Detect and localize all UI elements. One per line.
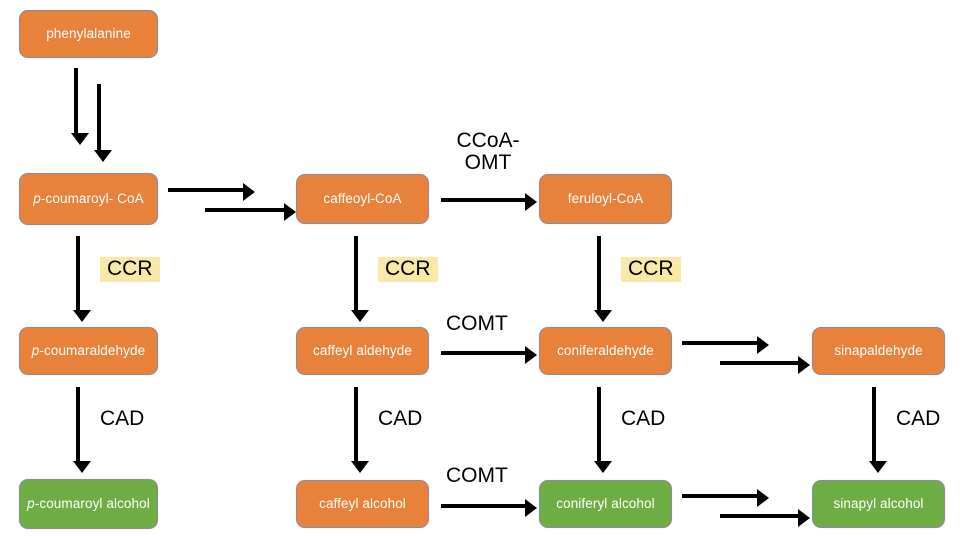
node-coniferaldehyde[interactable]: coniferaldehyde <box>539 327 672 375</box>
node-label: p-coumaroyl alcohol <box>27 496 150 512</box>
node-coniferyl-alcohol[interactable]: coniferyl alcohol <box>539 480 672 528</box>
node-label: sinapyl alcohol <box>833 496 923 512</box>
enzyme-label-cad-col3: CAD <box>621 408 665 430</box>
arrow-caffeyl-aldehyde-to-coniferaldehyde <box>441 351 526 355</box>
arrow-caffeoyl-coa-to-caffeyl-aldehyde <box>354 236 358 311</box>
node-sinapyl-alcohol[interactable]: sinapyl alcohol <box>812 480 945 528</box>
node-label: coniferyl alcohol <box>556 496 655 512</box>
node-sinapaldehyde[interactable]: sinapaldehyde <box>812 327 945 375</box>
enzyme-label-cad-col2: CAD <box>378 408 422 430</box>
node-label: caffeyl aldehyde <box>313 343 412 359</box>
enzyme-label-cad-col1: CAD <box>100 408 144 430</box>
node-label: p-coumaroyl- CoA <box>33 191 143 207</box>
enzyme-label-ccr-col1: CCR <box>100 257 160 282</box>
enzyme-label-ccoa-omt: CCoA- OMT <box>440 130 536 174</box>
enzyme-label-cad-col4: CAD <box>896 408 940 430</box>
arrow-caffeyl-aldehyde-to-caffeyl-alcohol <box>354 387 358 462</box>
node-caffeoyl-coa[interactable]: caffeoyl-CoA <box>296 174 429 224</box>
arrow-phenylalanine-to-p-coumaroyl-coa-b <box>97 84 101 151</box>
arrow-phenylalanine-to-p-coumaroyl-coa-a <box>74 68 78 134</box>
arrow-p-coumaraldehyde-to-p-coumaroyl-alcohol <box>76 387 80 462</box>
node-caffeyl-alcohol[interactable]: caffeyl alcohol <box>296 480 429 528</box>
enzyme-label-comt-aldehyde: COMT <box>446 313 508 335</box>
node-label: sinapaldehyde <box>834 343 922 359</box>
node-label: caffeoyl-CoA <box>323 191 401 207</box>
arrow-p-coumaroyl-coa-to-caffeoyl-coa-b <box>205 208 285 212</box>
node-label: p-coumaraldehyde <box>32 343 145 359</box>
arrow-p-coumaroyl-coa-to-p-coumaraldehyde <box>76 236 80 311</box>
node-caffeyl-aldehyde[interactable]: caffeyl aldehyde <box>296 327 429 375</box>
node-p-coumaroyl-alcohol[interactable]: p-coumaroyl alcohol <box>19 479 158 529</box>
enzyme-label-ccr-col2: CCR <box>378 257 438 282</box>
node-label: coniferaldehyde <box>557 343 654 359</box>
italic-prefix: p <box>27 496 35 511</box>
arrow-coniferyl-alcohol-to-sinapyl-alcohol-a <box>682 494 758 498</box>
arrow-p-coumaroyl-coa-to-caffeoyl-coa-a <box>168 188 244 192</box>
node-p-coumaroyl-coa[interactable]: p-coumaroyl- CoA <box>19 173 158 225</box>
node-label: phenylalanine <box>46 26 131 42</box>
enzyme-label-comt-alcohol: COMT <box>446 465 508 487</box>
node-p-coumaraldehyde[interactable]: p-coumaraldehyde <box>19 327 158 375</box>
italic-prefix: p <box>33 191 41 206</box>
arrow-caffeyl-alcohol-to-coniferyl-alcohol <box>441 504 526 508</box>
arrow-coniferaldehyde-to-coniferyl-alcohol <box>597 387 601 462</box>
arrow-coniferyl-alcohol-to-sinapyl-alcohol-b <box>720 514 799 518</box>
arrow-coniferaldehyde-to-sinapaldehyde-a <box>682 341 758 345</box>
arrow-coniferaldehyde-to-sinapaldehyde-b <box>720 361 799 365</box>
node-feruloyl-coa[interactable]: feruloyl-CoA <box>539 174 672 224</box>
enzyme-label-ccr-col3: CCR <box>621 257 681 282</box>
arrow-sinapaldehyde-to-sinapyl-alcohol <box>872 387 876 462</box>
pathway-diagram: phenylalanine p-coumaroyl- CoA caffeoyl-… <box>0 0 960 536</box>
node-phenylalanine[interactable]: phenylalanine <box>19 10 158 58</box>
node-label: feruloyl-CoA <box>568 191 643 207</box>
node-label: caffeyl alcohol <box>319 496 406 512</box>
arrow-feruloyl-coa-to-coniferaldehyde <box>597 236 601 311</box>
arrow-caffeoyl-coa-to-feruloyl-coa <box>441 198 526 202</box>
